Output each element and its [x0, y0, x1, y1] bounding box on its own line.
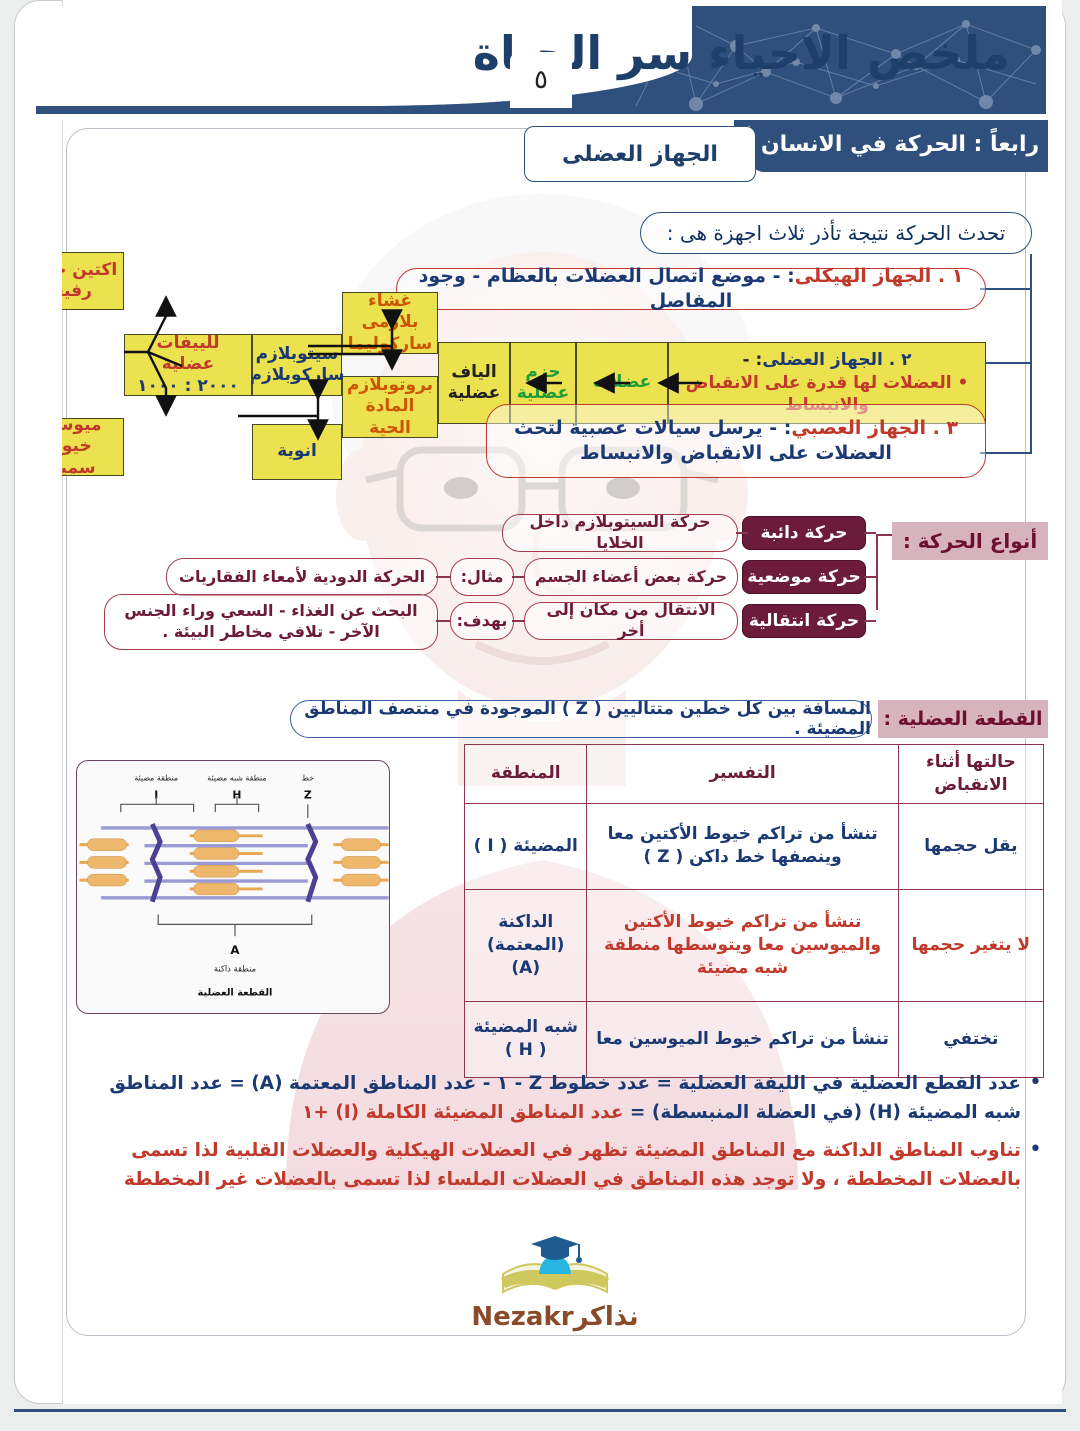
mt-link-3c — [436, 620, 450, 622]
bullet-text-2: تناوب المناطق الداكنة مع المناطق المضيئة… — [90, 1137, 1021, 1194]
movement-def-1: حركة السيتوبلازم داخل الخلايا — [502, 514, 738, 552]
brand-name: نذاكرNezakr — [471, 1302, 638, 1332]
document-page: ملخص الاحياء سر الحياة ٥ — [0, 0, 1080, 1431]
intro-statement: تحدث الحركة نتيجة تأذر ثلاث اجهزة هى : — [640, 212, 1032, 254]
brand-name-ar: نذاكر — [574, 1302, 639, 1332]
list-item: • تناوب المناطق الداكنة مع المناطق المضي… — [90, 1137, 1042, 1194]
system-nervous-text: ٣ . الجهاز العصبي: - يرسل سيالات عصبية ل… — [499, 416, 973, 465]
chain-protoplasm: بروتوبلازم المادة الحية — [342, 376, 438, 438]
connector-3 — [980, 452, 1032, 454]
col-zone: المنطقة — [465, 745, 587, 804]
cell-zone-3: شبه المضيئة ( H ) — [465, 1001, 587, 1077]
bullet-text-1: عدد القطع العضلية في الليفة العضلية = عد… — [90, 1070, 1021, 1127]
fig-caption: القطعة العضلية — [198, 987, 273, 998]
mt-link-1b — [736, 532, 748, 534]
connector-1 — [980, 288, 1032, 290]
mt-spine — [876, 534, 878, 610]
bullet1-part1: عدد القطع العضلية في الليفة العضلية = عد… — [549, 1073, 1021, 1094]
system-skeletal-text: ١ . الجهاز الهيكلى: - موضع اتصال العضلات… — [409, 264, 973, 313]
movement-detail-2: الحركة الدودية لأمعاء الفقاريات — [166, 558, 438, 596]
fig-letter-A: A — [230, 943, 240, 957]
sarcomere-diagram-icon: منطقة مضيئة منطقة شبه مضيئة خط I H Z — [79, 761, 389, 1011]
cell-state-3: تختفي — [898, 1001, 1043, 1077]
col-state: حالتها أثناء الانقباض — [898, 745, 1043, 804]
table-row: يقل حجمها تنشأ من تراكم خيوط الأكتين معا… — [465, 803, 1044, 889]
chain-membrane: غشاء بلازمى ساركوليما — [342, 292, 438, 354]
system-box-nervous: ٣ . الجهاز العصبي: - يرسل سيالات عصبية ل… — [486, 404, 986, 478]
section-ribbon: رابعاً : الحركة في الانسان — [750, 120, 1048, 172]
connector-2 — [980, 362, 1032, 364]
movement-connector-3: بهدف: — [450, 602, 514, 640]
system-muscular-title: ٢ . الجهاز العضلى: - — [743, 350, 912, 371]
system-nervous-name: ٣ . الجهاز العصبي — [791, 417, 958, 439]
footer-bar — [14, 1409, 1066, 1431]
section-subtitle: الجهاز العضلى — [524, 126, 756, 182]
fig-label-A: منطقة داكنة — [214, 964, 256, 974]
col-explanation: التفسير — [587, 745, 898, 804]
notes-list: • عدد القطع العضلية في الليفة العضلية = … — [90, 1070, 1042, 1205]
sarcomere-definition: المسافة بين كل خطين متتاليين ( Z ) الموج… — [290, 700, 872, 738]
mt-link-1 — [864, 532, 876, 534]
movement-def-3: الانتقال من مكان إلى أخر — [524, 602, 738, 640]
mt-link-2 — [864, 576, 876, 578]
fig-label-Z: خط — [302, 774, 314, 783]
table-row: تختفي تنشأ من تراكم خيوط الميوسين معا شب… — [465, 1001, 1044, 1077]
fig-letter-Z: Z — [304, 788, 312, 801]
movement-detail-3: البحث عن الغذاء - السعي وراء الجنس الآخر… — [104, 594, 438, 650]
cell-explanation-1: تنشأ من تراكم خيوط الأكتين معا وينصفها خ… — [587, 803, 898, 889]
bullet1-part3: عدد المناطق المضيئة الكاملة (I) +١ — [302, 1102, 623, 1123]
table-row: لا يتغير حجمها تنشأ من تراكم خيوط الأكتي… — [465, 889, 1044, 1001]
connector-spine — [1030, 254, 1032, 454]
mt-link-2b — [512, 576, 524, 578]
sarcomere-label: القطعة العضلية : — [878, 700, 1048, 738]
table-header-row: حالتها أثناء الانقباض التفسير المنطقة — [465, 745, 1044, 804]
cell-zone-2: الداكنة (المعتمة) (A) — [465, 889, 587, 1001]
brand-name-en: Nezakr — [471, 1302, 573, 1332]
sarcomere-figure: منطقة مضيئة منطقة شبه مضيئة خط I H Z — [76, 760, 390, 1014]
list-item: • عدد القطع العضلية في الليفة العضلية = … — [90, 1070, 1042, 1127]
system-skeletal-name: ١ . الجهاز الهيكلى — [795, 265, 964, 287]
fig-label-I: منطقة مضيئة — [134, 774, 178, 783]
fig-label-H: منطقة شبه مضيئة — [207, 774, 266, 783]
cell-state-2: لا يتغير حجمها — [898, 889, 1043, 1001]
sarcomere-table: حالتها أثناء الانقباض التفسير المنطقة يق… — [464, 744, 1044, 1078]
page-number-tab: ٥ — [510, 52, 572, 108]
chain-myosin: ميوسين خيوط سميكة — [62, 418, 124, 476]
movement-def-2: حركة بعض أعضاء الجسم — [524, 558, 738, 596]
cell-explanation-2: تنشأ من تراكم خيوط الأكتين والميوسين معا… — [587, 889, 898, 1001]
movement-type-3: حركة انتقالية — [742, 604, 866, 638]
system-box-skeletal: ١ . الجهاز الهيكلى: - موضع اتصال العضلات… — [396, 268, 986, 310]
cell-zone-1: المضيئة ( I ) — [465, 803, 587, 889]
banner-title: ملخص الاحياء سر الحياة — [410, 26, 1010, 80]
mt-link-2c — [436, 576, 450, 578]
content-area: رابعاً : الحركة في الانسان الجهاز العضلى… — [62, 120, 1048, 1350]
mt-link-3b — [512, 620, 524, 622]
bullet-dot: • — [1029, 1070, 1042, 1127]
chain-nucleus: انوية — [252, 424, 342, 480]
system-skeletal-desc: : - موضع اتصال العضلات بالعظام - وجود ال… — [419, 265, 795, 312]
movement-types-label: أنواع الحركة : — [892, 522, 1048, 560]
brand-logo: نذاكرNezakr — [62, 1230, 1048, 1332]
mt-spine-tap — [876, 534, 892, 536]
bullet-dot: • — [1029, 1137, 1042, 1194]
cell-explanation-3: تنشأ من تراكم خيوط الميوسين معا — [587, 1001, 898, 1077]
cell-state-1: يقل حجمها — [898, 803, 1043, 889]
graduate-book-logo-icon — [495, 1230, 615, 1300]
bullet1-z: Z — [529, 1073, 542, 1094]
movement-type-2: حركة موضعية — [742, 560, 866, 594]
chain-cytoplasm: سيتوبلازم ساركوبلازم — [252, 334, 342, 396]
chain-myofibrils: للييفات عضلية ٢٠٠٠ : ١٠٠٠ — [124, 334, 252, 396]
movement-connector-2: مثال: — [450, 558, 514, 596]
mt-link-3 — [864, 620, 876, 622]
movement-type-1: حركة دائبة — [742, 516, 866, 550]
chain-actin: اكتين خيوط رفيعة — [62, 252, 124, 310]
